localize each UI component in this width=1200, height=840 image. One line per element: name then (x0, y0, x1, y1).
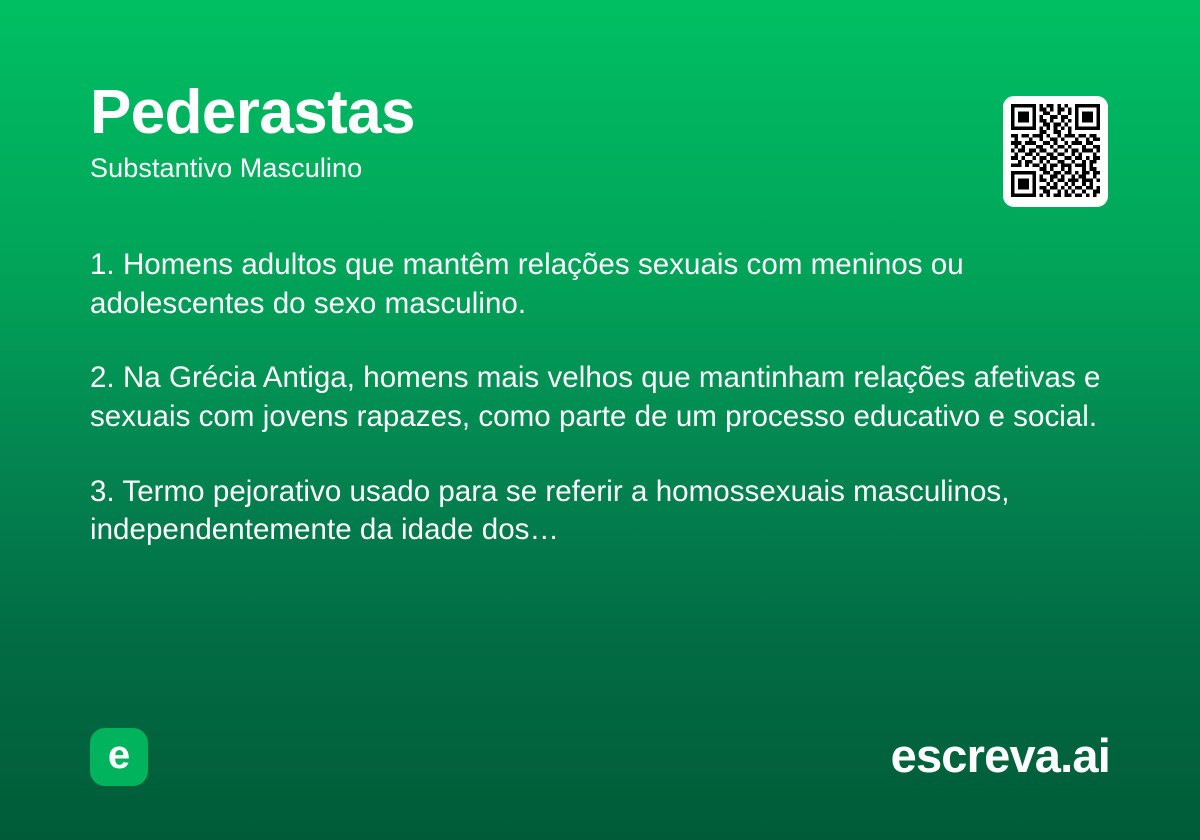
list-item: 3. Termo pejorativo usado para se referi… (90, 473, 1102, 550)
card-footer: e escreva.ai (90, 728, 1110, 788)
word-class-label: Substantivo Masculino (90, 153, 1110, 184)
qr-code-panel[interactable] (1003, 96, 1108, 207)
card-header: Pederastas Substantivo Masculino (90, 80, 1110, 184)
page-title: Pederastas (90, 80, 1110, 145)
list-item: 2. Na Grécia Antiga, homens mais velhos … (90, 359, 1102, 436)
dictionary-card: Pederastas Substantivo Masculino 1. Home… (0, 0, 1200, 840)
list-item: 1. Homens adultos que mantêm relações se… (90, 246, 1102, 323)
definition-list: 1. Homens adultos que mantêm relações se… (90, 246, 1102, 550)
brand-logo-letter: e (108, 735, 130, 775)
brand-wordmark: escreva.ai (891, 730, 1110, 782)
qr-code-icon (1011, 104, 1100, 197)
brand-logo-tile: e (90, 728, 148, 786)
